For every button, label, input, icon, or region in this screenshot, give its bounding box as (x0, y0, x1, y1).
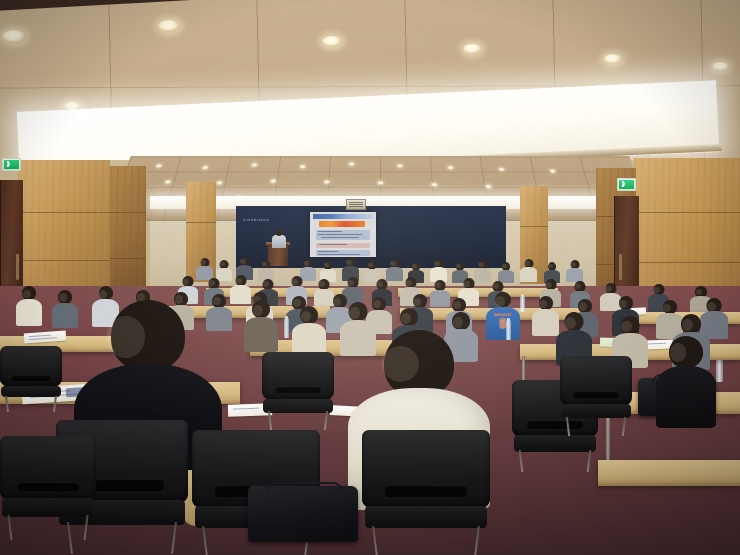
exit-sign-left (2, 158, 21, 171)
audience-member (566, 260, 583, 282)
audience-member (258, 260, 274, 281)
stage-banner-text: Conference (243, 217, 303, 222)
downlight-icon (604, 54, 622, 64)
audience-member-jersey: WRIGHT 5 (486, 292, 520, 340)
audience-member (656, 336, 716, 428)
wood-wall-left (18, 160, 110, 300)
backpack (248, 486, 358, 542)
chair[interactable] (0, 346, 62, 412)
conference-room-photo: Conference (0, 0, 740, 555)
presenter-head (276, 229, 282, 236)
downlight-icon (158, 20, 180, 32)
audience-member (430, 259, 447, 282)
jersey-torso: WRIGHT 5 (486, 307, 520, 340)
door-right[interactable] (614, 196, 639, 296)
chair[interactable] (560, 356, 632, 436)
table (598, 460, 740, 486)
audience-member (498, 262, 514, 283)
exit-sign-right (617, 178, 636, 191)
slide-title-band (319, 221, 365, 227)
water-bottle (284, 318, 289, 338)
downlight-icon (463, 44, 482, 54)
audience-member (16, 286, 42, 326)
downlight-icon (322, 36, 342, 47)
slide-header-band (313, 214, 373, 219)
audience-member (244, 300, 278, 352)
audience-member (532, 296, 559, 336)
downlight-icon (2, 30, 26, 43)
bag-strap (268, 482, 342, 492)
chair[interactable] (362, 430, 490, 555)
presenter-body (272, 235, 286, 248)
water-bottle (506, 320, 511, 340)
wood-column-left-inner (110, 166, 146, 294)
door-left[interactable] (0, 180, 23, 302)
water-bottle (520, 296, 525, 312)
audience-member (292, 306, 326, 356)
door-handle[interactable] (16, 254, 19, 280)
jersey-number-text: 5 (486, 317, 520, 330)
torso (656, 366, 716, 428)
audience-member (196, 258, 213, 280)
ceiling-speaker-icon (346, 199, 366, 210)
door-handle[interactable] (619, 254, 622, 280)
audience-member (520, 259, 537, 282)
projection-screen (310, 212, 376, 257)
slide-surface (310, 212, 376, 257)
downlight-icon (712, 62, 729, 71)
chair[interactable] (0, 436, 96, 540)
chair[interactable] (262, 352, 334, 430)
